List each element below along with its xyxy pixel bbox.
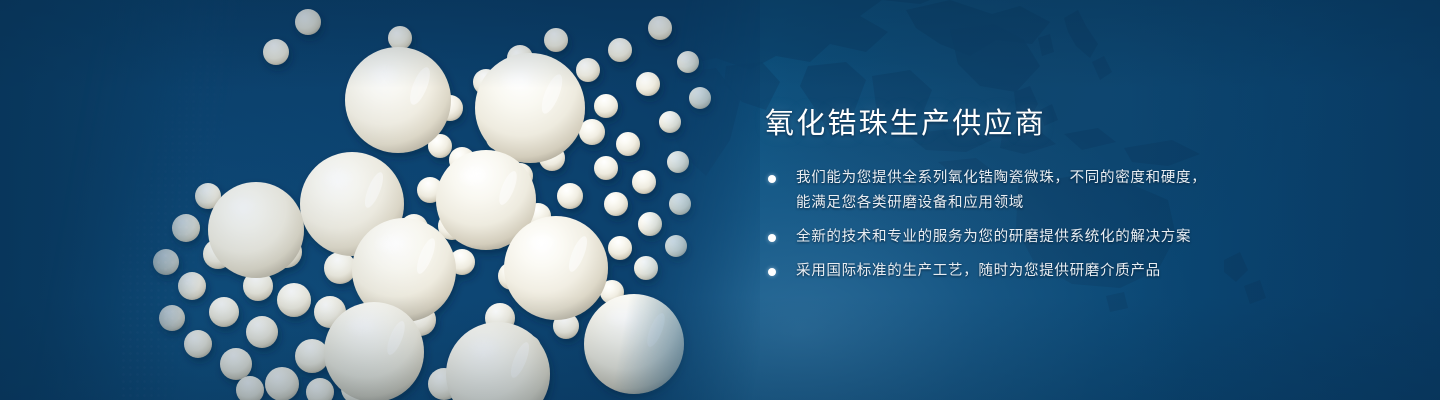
list-item: 我们能为您提供全系列氧化锆陶瓷微珠，不同的密度和硬度， 能满足您各类研磨设备和应… — [765, 166, 1385, 216]
bullet-dot-icon — [768, 268, 776, 276]
bullet-dot-icon — [768, 175, 776, 183]
list-item-line1: 全新的技术和专业的服务为您的研磨提供系统化的解决方案 — [796, 229, 1191, 245]
feature-list: 我们能为您提供全系列氧化锆陶瓷微珠，不同的密度和硬度， 能满足您各类研磨设备和应… — [765, 166, 1385, 284]
bullet-dot-icon — [768, 234, 776, 242]
page-title: 氧化锆珠生产供应商 — [765, 104, 1385, 144]
list-item-line1: 我们能为您提供全系列氧化锆陶瓷微珠，不同的密度和硬度， — [796, 170, 1206, 186]
list-item-line1: 采用国际标准的生产工艺，随时为您提供研磨介质产品 — [796, 263, 1161, 279]
list-item-line2: 能满足您各类研磨设备和应用领域 — [796, 191, 1385, 216]
list-item: 全新的技术和专业的服务为您的研磨提供系统化的解决方案 — [765, 225, 1385, 250]
list-item: 采用国际标准的生产工艺，随时为您提供研磨介质产品 — [765, 259, 1385, 284]
banner-copy: 氧化锆珠生产供应商 我们能为您提供全系列氧化锆陶瓷微珠，不同的密度和硬度， 能满… — [765, 104, 1385, 284]
hero-banner: 氧化锆珠生产供应商 我们能为您提供全系列氧化锆陶瓷微珠，不同的密度和硬度， 能满… — [0, 0, 1440, 400]
